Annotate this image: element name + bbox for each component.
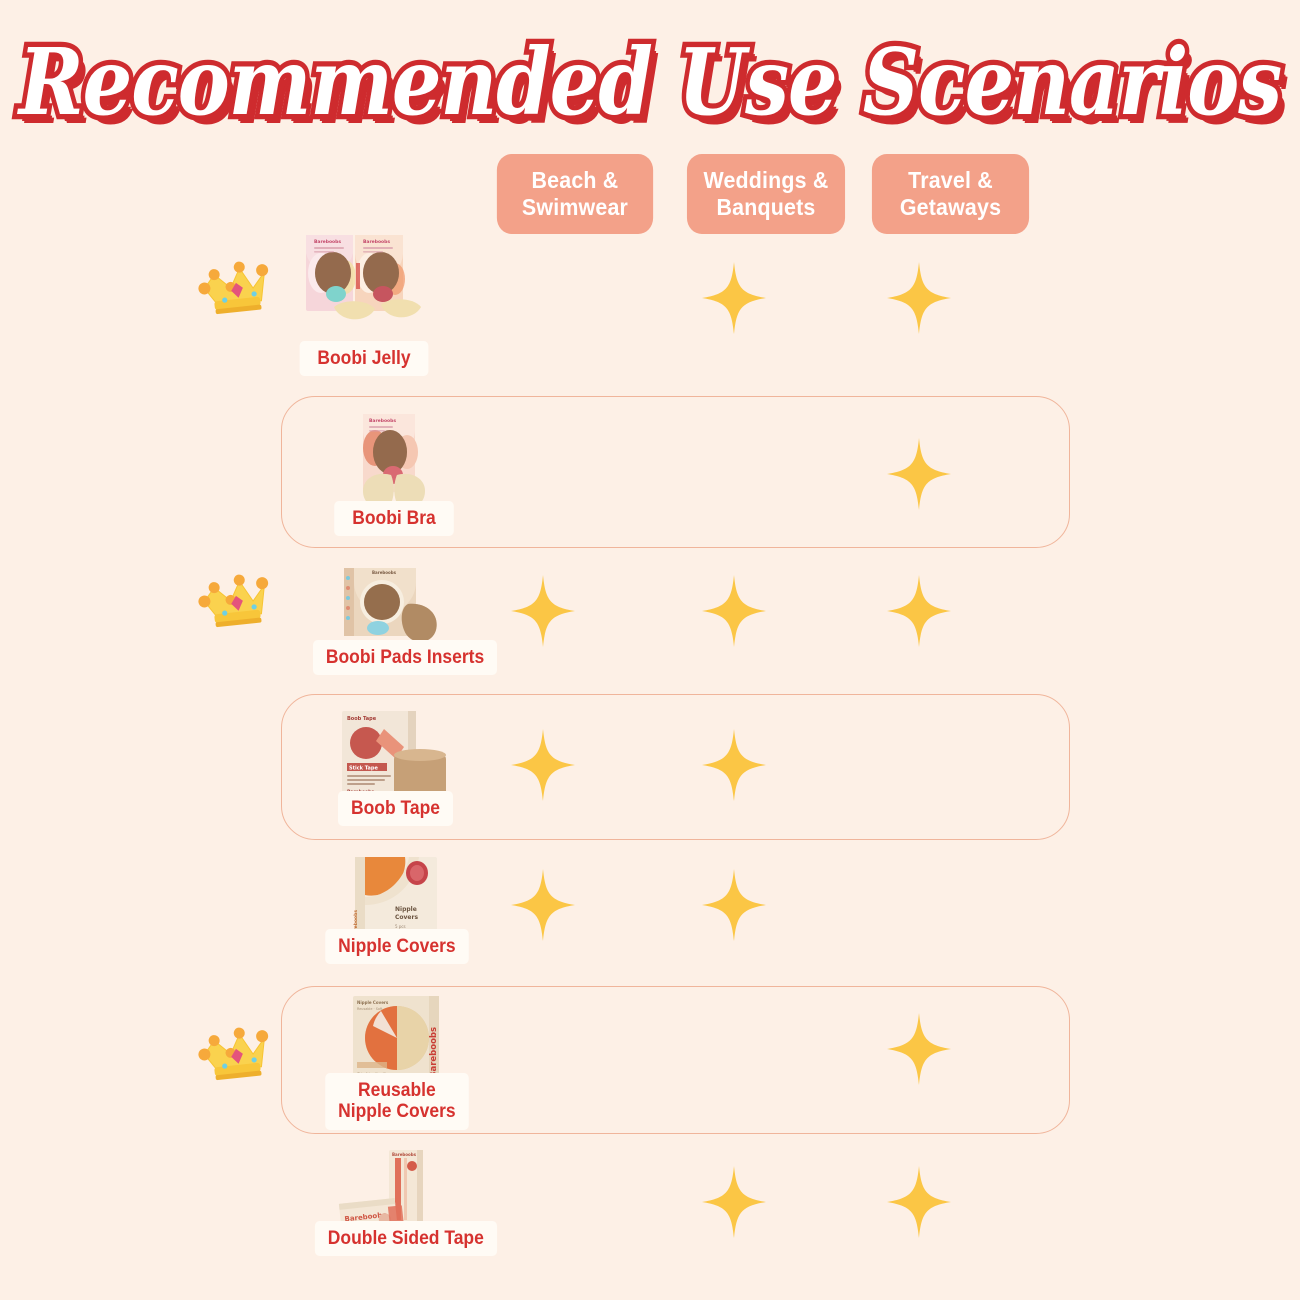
product-label-line1: Nipple Covers (338, 936, 456, 957)
star-icon (887, 1013, 951, 1085)
product-label-line1: Boobi Bra (352, 508, 436, 529)
star-icon (887, 575, 951, 647)
star-icon (702, 729, 766, 801)
product-label-line1: Boobi Jelly (317, 348, 410, 369)
star-icon (511, 729, 575, 801)
product-label-line1: Double Sided Tape (327, 1228, 483, 1249)
star-icon (702, 575, 766, 647)
product-label-boobi-bra[interactable]: Boobi Bra (334, 501, 454, 536)
star-icon (702, 1166, 766, 1238)
star-icon (702, 262, 766, 334)
product-label-line1: Boobi Pads Inserts (326, 647, 484, 668)
star-icon (511, 869, 575, 941)
star-icon (702, 869, 766, 941)
star-icon (887, 1166, 951, 1238)
product-label-boobi-jelly[interactable]: Boobi Jelly (300, 341, 429, 376)
product-label-boob-tape[interactable]: Boob Tape (338, 791, 453, 826)
product-label-line2: Nipple Covers (338, 1101, 456, 1122)
crown-icon (197, 566, 275, 638)
star-icon (887, 262, 951, 334)
product-label-reusable-nipple-covers[interactable]: ReusableNipple Covers (325, 1073, 468, 1130)
product-label-line1: Boob Tape (350, 798, 439, 819)
comparison-table: Boobi JellyBoobi BraBoobi Pads InsertsBo… (0, 0, 1300, 1300)
product-label-line1: Reusable (358, 1080, 436, 1101)
product-label-boobi-pads-inserts[interactable]: Boobi Pads Inserts (313, 640, 497, 675)
product-label-nipple-covers[interactable]: Nipple Covers (325, 929, 468, 964)
crown-icon (197, 1019, 275, 1091)
star-icon (511, 575, 575, 647)
product-label-double-sided-tape[interactable]: Double Sided Tape (314, 1221, 496, 1256)
star-icon (887, 438, 951, 510)
crown-icon (197, 253, 275, 325)
product-image-boobi-jelly[interactable] (303, 233, 425, 338)
